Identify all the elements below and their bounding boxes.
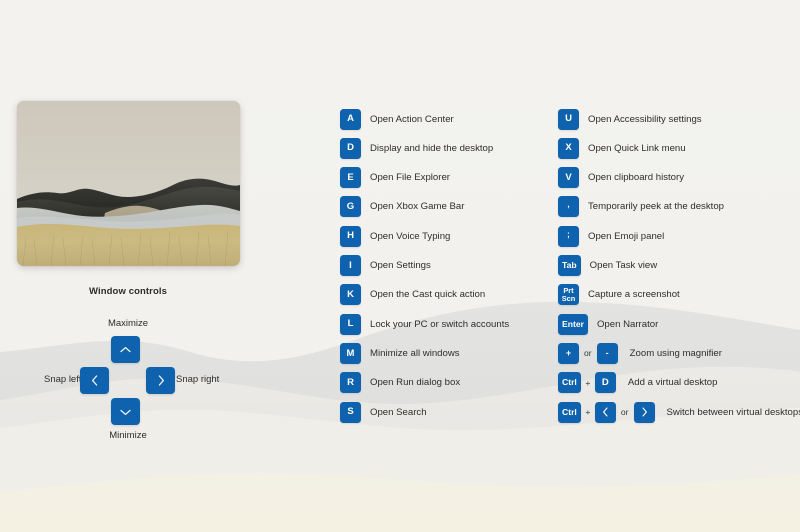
shortcut-description: Open the Cast quick action: [361, 289, 485, 300]
shortcut-row: GOpen Xbox Game Bar: [340, 196, 464, 218]
shortcut-row: PrtScnCapture a screenshot: [558, 284, 680, 306]
shortcut-row: Ctrl+DAdd a virtual desktop: [558, 372, 717, 394]
key-tile-d[interactable]: D: [340, 138, 361, 159]
key-joiner-or: or: [616, 407, 634, 417]
shortcut-description: Open Accessibility settings: [579, 114, 702, 125]
key-tile-u[interactable]: U: [558, 109, 579, 130]
key-tile-chevron-left[interactable]: [595, 402, 616, 423]
key-tile-l[interactable]: L: [340, 314, 361, 335]
chevron-left-icon: [602, 407, 609, 417]
shortcut-row: XOpen Quick Link menu: [558, 137, 686, 159]
key-tile-s[interactable]: S: [340, 402, 361, 423]
minimize-label: Minimize: [0, 430, 256, 441]
shortcut-row: LLock your PC or switch accounts: [340, 313, 509, 335]
key-tile-x[interactable]: X: [558, 138, 579, 159]
key-tile-prt-scn[interactable]: PrtScn: [558, 284, 579, 305]
key-tile-ctrl[interactable]: Ctrl: [558, 372, 581, 393]
snap-right-button[interactable]: [146, 367, 175, 394]
key-tile-tab[interactable]: Tab: [558, 255, 581, 276]
chevron-up-icon: [120, 346, 131, 354]
key-tile-[interactable]: -: [597, 343, 618, 364]
key-tile-h[interactable]: H: [340, 226, 361, 247]
key-tile-a[interactable]: A: [340, 109, 361, 130]
window-controls-cluster: Maximize Snap left: [0, 310, 256, 440]
key-tile-k[interactable]: K: [340, 284, 361, 305]
key-tile-[interactable]: +: [558, 343, 579, 364]
shortcut-description: Add a virtual desktop: [616, 377, 718, 388]
shortcut-row: AOpen Action Center: [340, 108, 454, 130]
shortcut-description: Zoom using magnifier: [618, 348, 722, 359]
key-tile-g[interactable]: G: [340, 196, 361, 217]
shortcut-description: Open Task view: [581, 260, 658, 271]
snap-right-label: Snap right: [176, 374, 219, 385]
key-tile-[interactable]: ,: [558, 196, 579, 217]
shortcut-row: ,Temporarily peek at the desktop: [558, 196, 724, 218]
key-tile-i[interactable]: I: [340, 255, 361, 276]
shortcut-row: HOpen Voice Typing: [340, 225, 450, 247]
shortcut-row: EOpen File Explorer: [340, 167, 450, 189]
shortcut-description: Open Run dialog box: [361, 377, 460, 388]
key-tile-e[interactable]: E: [340, 167, 361, 188]
chevron-down-icon: [120, 408, 131, 416]
key-tile-d[interactable]: D: [595, 372, 616, 393]
key-tile-m[interactable]: M: [340, 343, 361, 364]
shortcut-description: Open Search: [361, 407, 427, 418]
shortcut-row: +or-Zoom using magnifier: [558, 342, 722, 364]
key-tile-enter[interactable]: Enter: [558, 314, 588, 335]
shortcut-row: KOpen the Cast quick action: [340, 284, 485, 306]
key-tile-chevron-right[interactable]: [634, 402, 655, 423]
shortcut-row: TabOpen Task view: [558, 255, 657, 277]
left-panel: Window controls Maximize Snap left: [0, 0, 300, 532]
key-tile-v[interactable]: V: [558, 167, 579, 188]
shortcut-description: Open Quick Link menu: [579, 143, 686, 154]
shortcut-row: MMinimize all windows: [340, 342, 460, 364]
shortcut-row: ROpen Run dialog box: [340, 372, 460, 394]
shortcut-description: Lock your PC or switch accounts: [361, 319, 509, 330]
shortcut-description: Open Narrator: [588, 319, 658, 330]
shortcut-description: Minimize all windows: [361, 348, 460, 359]
snap-left-label: Snap left: [44, 374, 82, 385]
shortcut-description: Open Action Center: [361, 114, 454, 125]
shortcut-row: VOpen clipboard history: [558, 167, 684, 189]
shortcut-description: Open Settings: [361, 260, 431, 271]
shortcut-row: SOpen Search: [340, 401, 427, 423]
key-joiner-plus: +: [581, 378, 595, 388]
chevron-right-icon: [641, 407, 648, 417]
window-controls-title: Window controls: [0, 286, 256, 297]
shortcut-row: Ctrl+orSwitch between virtual desktops: [558, 401, 800, 423]
snap-left-button[interactable]: [80, 367, 109, 394]
shortcut-row: UOpen Accessibility settings: [558, 108, 702, 130]
shortcut-description: Open clipboard history: [579, 172, 684, 183]
key-joiner-or: or: [579, 348, 597, 358]
maximize-button[interactable]: [111, 336, 140, 363]
maximize-label: Maximize: [0, 318, 256, 329]
shortcut-description: Open Voice Typing: [361, 231, 450, 242]
shortcut-description: Open Emoji panel: [579, 231, 664, 242]
shortcut-description: Open Xbox Game Bar: [361, 201, 464, 212]
chevron-left-icon: [91, 375, 99, 386]
shortcut-row: EnterOpen Narrator: [558, 313, 658, 335]
minimize-button[interactable]: [111, 398, 140, 425]
key-tile-ctrl[interactable]: Ctrl: [558, 402, 581, 423]
shortcut-description: Temporarily peek at the desktop: [579, 201, 724, 212]
shortcut-description: Open File Explorer: [361, 172, 450, 183]
shortcut-description: Switch between virtual desktops: [655, 407, 800, 418]
key-tile-r[interactable]: R: [340, 372, 361, 393]
key-tile-[interactable]: ;: [558, 226, 579, 247]
key-joiner-plus: +: [581, 407, 595, 417]
shortcut-description: Capture a screenshot: [579, 289, 680, 300]
desktop-wallpaper-thumbnail[interactable]: [17, 101, 240, 266]
shortcut-row: DDisplay and hide the desktop: [340, 137, 493, 159]
shortcut-row: ;Open Emoji panel: [558, 225, 664, 247]
shortcut-description: Display and hide the desktop: [361, 143, 493, 154]
chevron-right-icon: [157, 375, 165, 386]
key-tile-line-2: Scn: [562, 295, 576, 303]
shortcut-row: IOpen Settings: [340, 255, 431, 277]
